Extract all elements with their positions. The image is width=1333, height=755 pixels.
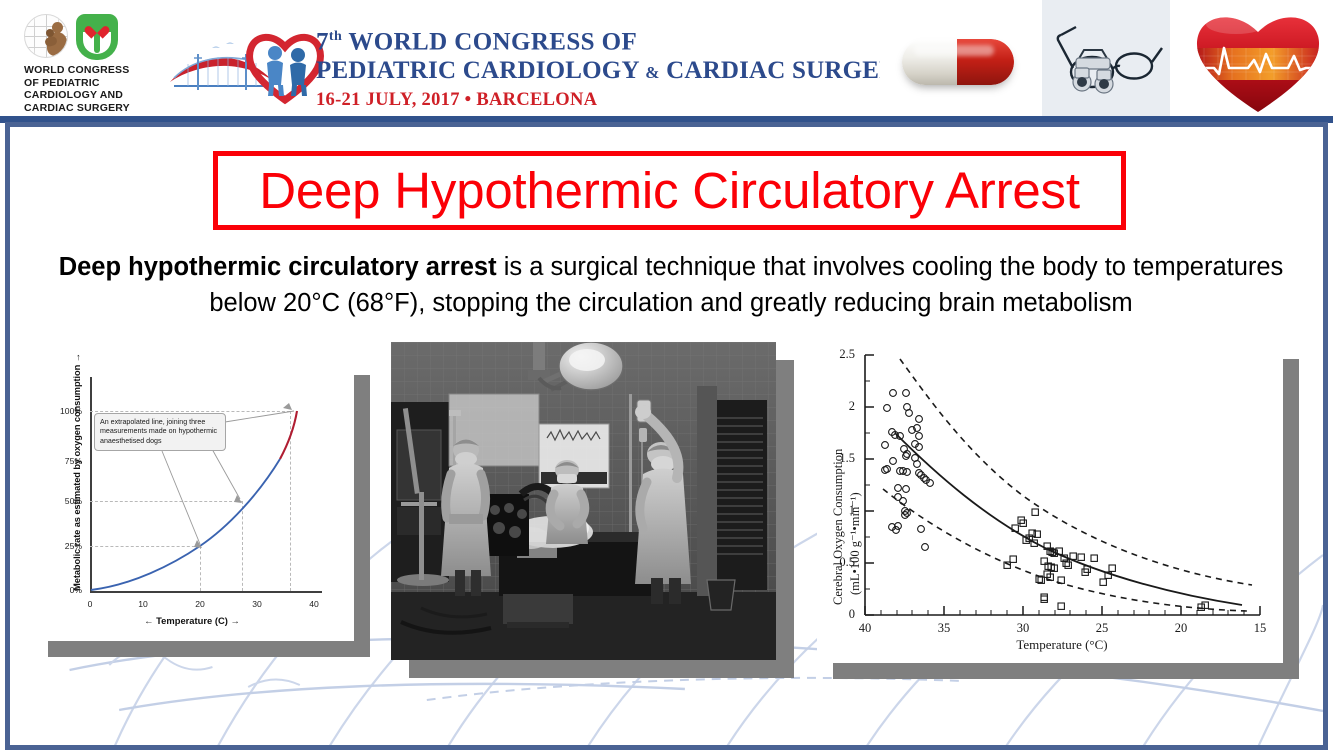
- globe-icon: [24, 14, 68, 58]
- mother-child-icon: [44, 22, 68, 56]
- right-chart-xtick: 30: [1008, 621, 1038, 636]
- body-text-bold: Deep hypothermic circulatory arrest: [59, 253, 497, 281]
- right-chart-xtick: 15: [1245, 621, 1275, 636]
- ecg-heart-photo: [1182, 0, 1333, 122]
- congress-line-2: PEDIATRIC CARDIOLOGY & CARDIAC SURGERY: [316, 56, 891, 87]
- right-chart-xtick: 35: [929, 621, 959, 636]
- surgical-loupe-glasses-photo: [1042, 0, 1170, 122]
- right-chart-ytick: 2: [825, 399, 855, 414]
- historic-operating-room-photo: [391, 342, 776, 660]
- world-congress-logo: WORLD CONGRESS OF PEDIATRIC CARDIOLOGY A…: [14, 12, 134, 112]
- slide-title-box: Deep Hypothermic Circulatory Arrest: [213, 151, 1126, 230]
- cerebral-oxygen-consumption-chart: 2.5 2 1.5 1 0.5 0 40 35 30 25 20 15 Temp…: [817, 343, 1283, 663]
- presentation-slide: WORLD CONGRESS OF PEDIATRIC CARDIOLOGY A…: [0, 0, 1333, 755]
- right-chart-x-axis-label: Temperature (°C): [912, 637, 1212, 653]
- congress-header-banner: WORLD CONGRESS OF PEDIATRIC CARDIOLOGY A…: [0, 0, 1333, 122]
- slide-content-frame: Deep Hypothermic Circulatory Arrest Deep…: [5, 122, 1328, 750]
- slide-body-text: Deep hypothermic circulatory arrest is a…: [48, 249, 1294, 321]
- congress-wordmark: 7th WORLD CONGRESS OF PEDIATRIC CARDIOLO…: [168, 22, 888, 112]
- shield-heart-icon: [76, 14, 118, 60]
- heart-with-children-icon: [243, 26, 327, 106]
- capsule-pill-photo: [880, 0, 1032, 122]
- left-chart-annotation: An extrapolated line, joining three meas…: [94, 413, 226, 451]
- right-chart-xtick: 25: [1087, 621, 1117, 636]
- right-chart-xtick: 20: [1166, 621, 1196, 636]
- congress-title-lines: 7th WORLD CONGRESS OF PEDIATRIC CARDIOLO…: [316, 22, 891, 112]
- left-chart-curve: [32, 359, 354, 641]
- page-title: Deep Hypothermic Circulatory Arrest: [259, 161, 1080, 220]
- right-chart-ytick: 2.5: [825, 347, 855, 362]
- metabolic-rate-chart: 100% 75% 50% 25% 0% 0 10 20 30 40 Metabo…: [32, 359, 354, 641]
- right-chart-y-axis-label-line2: (mL•100 g⁻¹•min⁻¹): [847, 492, 863, 595]
- right-chart-y-axis-label-line1: Cerebral Oxygen Consumption: [831, 449, 846, 605]
- logo-wordmark: WORLD CONGRESS OF PEDIATRIC CARDIOLOGY A…: [24, 64, 130, 114]
- congress-line-1: 7th WORLD CONGRESS OF: [316, 22, 891, 56]
- right-chart-xtick: 40: [850, 621, 880, 636]
- congress-line-3: 16-21 JULY, 2017 • BARCELONA: [316, 88, 891, 112]
- right-chart-ytick: 0: [825, 607, 855, 622]
- right-chart-plot: [817, 343, 1283, 663]
